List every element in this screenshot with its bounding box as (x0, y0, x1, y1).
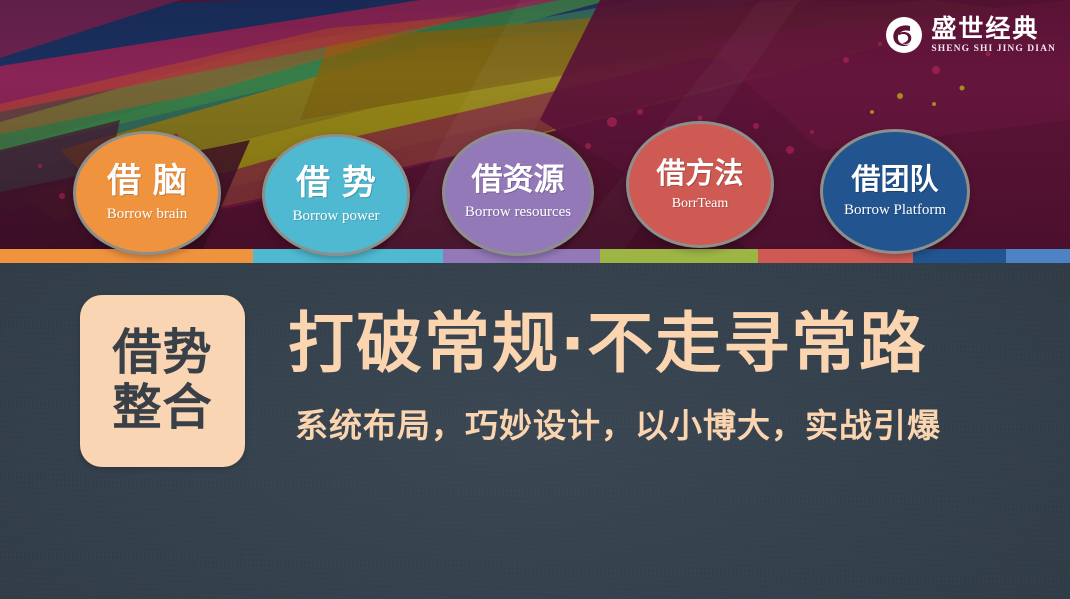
speech-bubble-title-en-5: Borrow Platform (844, 203, 946, 218)
speech-bubble-5[interactable]: 借团队Borrow Platform (820, 129, 970, 254)
speech-bubble-title-cn-5: 借团队 (851, 165, 938, 194)
speech-bubble-1[interactable]: 借 脑Borrow brain (73, 131, 221, 255)
badge-line-1: 借势 (112, 326, 212, 381)
speech-bubble-title-cn-4: 借方法 (656, 159, 743, 188)
speech-bubble-body-1: 借 脑Borrow brain (73, 131, 221, 255)
speech-bubble-body-5: 借团队Borrow Platform (820, 129, 970, 254)
speech-bubble-body-3: 借资源Borrow resources (442, 129, 594, 256)
speech-bubble-title-en-2: Borrow power (292, 209, 379, 224)
speech-bubble-title-cn-3: 借资源 (472, 165, 565, 196)
slide-headline: 打破常规·不走寻常路 (288, 308, 927, 379)
brand-logo-text: 盛世经典 SHENG SHI JING DIAN (931, 16, 1056, 55)
speech-bubble-2[interactable]: 借 势Borrow power (262, 134, 410, 256)
speech-bubble-title-en-1: Borrow brain (107, 207, 187, 222)
swirl-logo-icon (886, 17, 922, 53)
speech-bubble-3[interactable]: 借资源Borrow resources (442, 129, 594, 256)
swirl-logo-glyph (886, 17, 922, 53)
brand-name-en: SHENG SHI JING DIAN (931, 45, 1056, 55)
brand-name-cn: 盛世经典 (931, 16, 1056, 41)
speech-bubble-title-en-4: BorrTeam (672, 197, 729, 211)
key-concept-badge: 借势 整合 (80, 295, 245, 467)
brand-logo: 盛世经典 SHENG SHI JING DIAN (886, 16, 1056, 55)
speech-bubble-body-2: 借 势Borrow power (262, 134, 410, 256)
speech-bubble-4[interactable]: 借方法BorrTeam (626, 121, 774, 248)
speech-bubble-title-cn-2: 借 势 (296, 166, 376, 200)
speech-bubble-body-4: 借方法BorrTeam (626, 121, 774, 248)
badge-line-2: 整合 (112, 381, 212, 436)
slide-subheadline: 系统布局，巧妙设计，以小博大，实战引爆 (295, 406, 941, 446)
slide-canvas: 盛世经典 SHENG SHI JING DIAN 借 脑Borrow brain… (0, 0, 1070, 599)
speech-bubble-title-cn-1: 借 脑 (107, 164, 187, 198)
speech-bubble-title-en-3: Borrow resources (465, 205, 571, 220)
